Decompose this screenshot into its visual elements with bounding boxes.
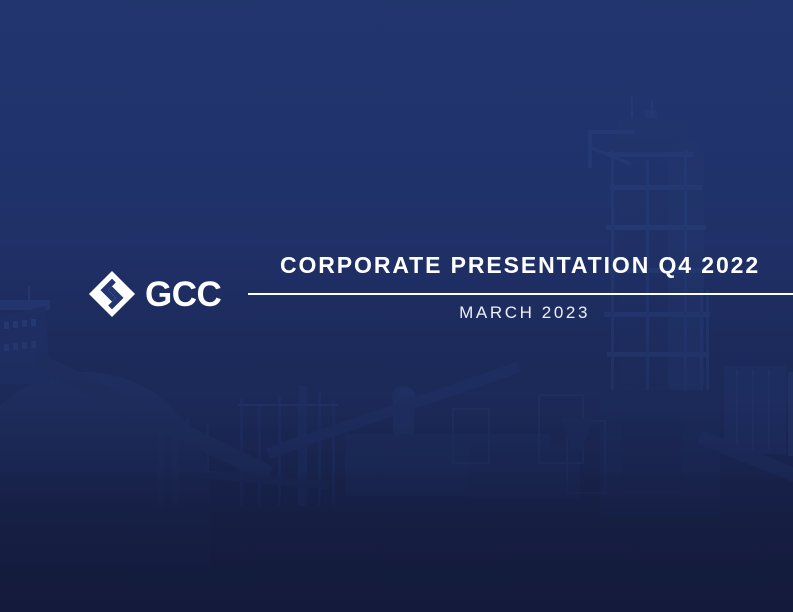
slide-content: GCC CORPORATE PRESENTATION Q4 2022 MARCH… xyxy=(0,0,793,612)
slide-title: CORPORATE PRESENTATION Q4 2022 xyxy=(280,252,750,278)
slide-date: MARCH 2023 xyxy=(280,303,590,323)
brand-wordmark: GCC xyxy=(145,277,221,312)
title-divider-rule xyxy=(248,293,793,295)
slide-date-container: MARCH 2023 xyxy=(280,303,590,323)
gcc-diamond-logo-icon xyxy=(88,270,136,318)
presentation-title-slide: GCC CORPORATE PRESENTATION Q4 2022 MARCH… xyxy=(0,0,793,612)
slide-title-container: CORPORATE PRESENTATION Q4 2022 xyxy=(280,252,750,278)
brand-logo: GCC xyxy=(88,270,221,318)
